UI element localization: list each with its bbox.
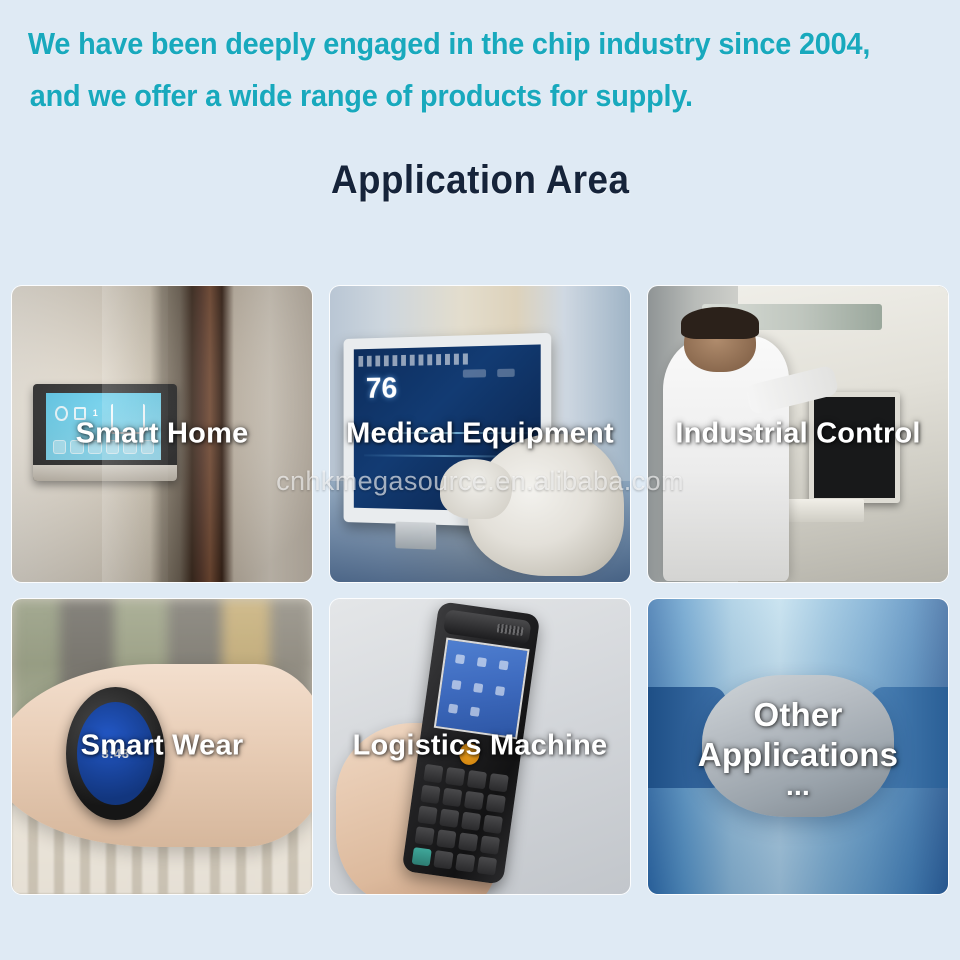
smart-watch-icon: 3:43 bbox=[66, 687, 165, 820]
smart-wear-photo: 3:43 bbox=[12, 599, 312, 895]
application-card-smart-wear[interactable]: 3:43 Smart Wear bbox=[12, 599, 312, 895]
glass-glare bbox=[102, 286, 168, 582]
control-screen-icon bbox=[809, 392, 900, 502]
headline-line-1: We have been deeply engaged in the chip … bbox=[28, 26, 870, 61]
technician-hair bbox=[681, 307, 759, 340]
technician-body bbox=[663, 336, 789, 581]
promo-headline: We have been deeply engaged in the chip … bbox=[0, 18, 893, 122]
waveform-trace bbox=[364, 432, 528, 434]
application-area-grid: 1 Smart Home 76 bbox=[12, 286, 948, 894]
pda-screen bbox=[434, 638, 529, 740]
smart-home-photo: 1 bbox=[12, 286, 312, 582]
vital-value: 76 bbox=[366, 374, 398, 404]
handshake-icon bbox=[702, 675, 894, 817]
pda-keypad bbox=[412, 764, 509, 875]
industrial-control-photo bbox=[648, 286, 948, 582]
section-title: Application Area bbox=[0, 158, 960, 203]
pda-nav-button bbox=[458, 742, 481, 766]
panel-temp-value: 1 bbox=[93, 408, 98, 418]
application-card-other-applications[interactable]: Other Applications ... bbox=[648, 599, 948, 895]
watch-time: 3:43 bbox=[101, 746, 129, 761]
headline-line-2: and we offer a wide range of products fo… bbox=[28, 70, 893, 122]
other-applications-photo bbox=[648, 599, 948, 895]
watch-face: 3:43 bbox=[77, 702, 154, 806]
application-card-logistics-machine[interactable]: Logistics Machine bbox=[330, 599, 630, 895]
logistics-machine-photo bbox=[330, 599, 630, 895]
application-card-smart-home[interactable]: 1 Smart Home bbox=[12, 286, 312, 582]
monitor-stand bbox=[395, 522, 436, 550]
monitor-top-bar bbox=[359, 353, 469, 367]
pda-scanner-icon bbox=[402, 602, 541, 885]
application-card-industrial-control[interactable]: Industrial Control bbox=[648, 286, 948, 582]
application-card-medical-equipment[interactable]: 76 Medical Equipment bbox=[330, 286, 630, 582]
medical-equipment-photo: 76 bbox=[330, 286, 630, 582]
section-title-text: Application Area bbox=[331, 158, 629, 203]
